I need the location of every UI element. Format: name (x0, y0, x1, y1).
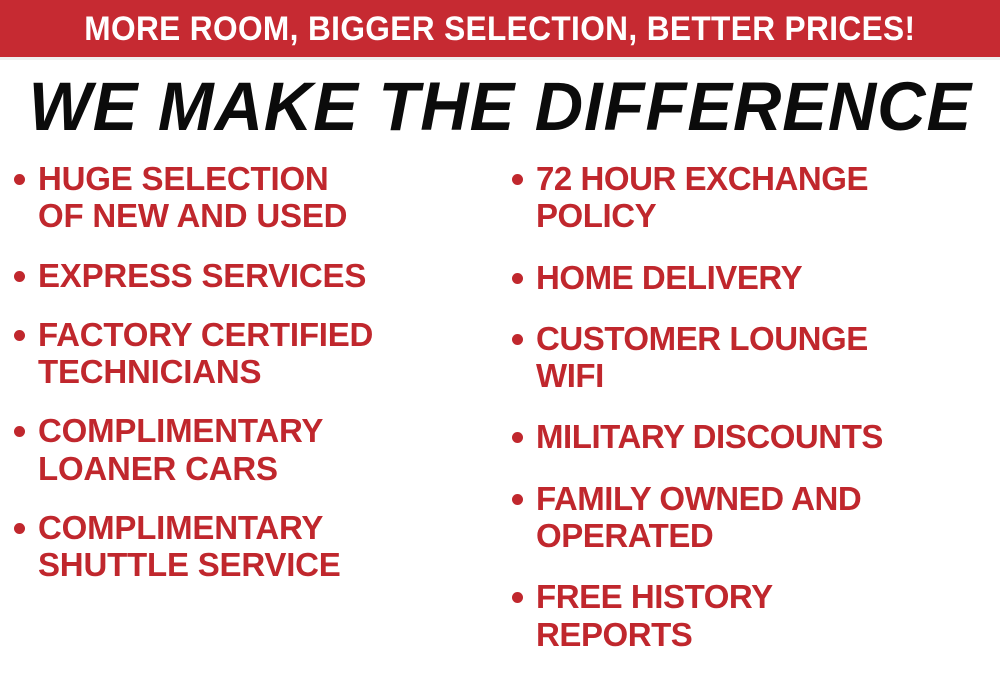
list-item-label: COMPLIMENTARY LOANER CARS (38, 412, 323, 487)
list-item-label: CUSTOMER LOUNGE WIFI (536, 320, 868, 395)
list-item-label: HOME DELIVERY (536, 259, 802, 296)
list-item-label: FAMILY OWNED AND OPERATED (536, 480, 861, 555)
list-item: FAMILY OWNED AND OPERATED (512, 480, 1000, 555)
list-item: CUSTOMER LOUNGE WIFI (512, 320, 1000, 395)
list-item-label: HUGE SELECTION OF NEW AND USED (38, 160, 347, 235)
page-title: WE MAKE THE DIFFERENCE (28, 72, 971, 141)
promo-banner: MORE ROOM, BIGGER SELECTION, BETTER PRIC… (0, 0, 1000, 57)
list-item: EXPRESS SERVICES (14, 257, 500, 294)
features-column-right: 72 HOUR EXCHANGE POLICYHOME DELIVERYCUST… (512, 160, 1000, 694)
bullet-dot-icon (512, 432, 523, 443)
list-item-label: 72 HOUR EXCHANGE POLICY (536, 160, 868, 235)
features-column-left: HUGE SELECTION OF NEW AND USEDEXPRESS SE… (14, 160, 500, 694)
promo-banner-text: MORE ROOM, BIGGER SELECTION, BETTER PRIC… (84, 12, 915, 46)
bullet-dot-icon (512, 174, 523, 185)
list-item: 72 HOUR EXCHANGE POLICY (512, 160, 1000, 235)
list-item-label: MILITARY DISCOUNTS (536, 418, 883, 455)
bullet-dot-icon (14, 330, 25, 341)
bullet-dot-icon (512, 494, 523, 505)
bullet-dot-icon (512, 592, 523, 603)
bullet-dot-icon (512, 273, 523, 284)
features-columns: HUGE SELECTION OF NEW AND USEDEXPRESS SE… (0, 160, 1000, 694)
list-item: COMPLIMENTARY LOANER CARS (14, 412, 500, 487)
list-item: HOME DELIVERY (512, 259, 1000, 296)
list-item: MILITARY DISCOUNTS (512, 418, 1000, 455)
list-item-label: EXPRESS SERVICES (38, 257, 366, 294)
headline-container: WE MAKE THE DIFFERENCE (0, 66, 1000, 146)
list-item: FACTORY CERTIFIED TECHNICIANS (14, 316, 500, 391)
bullet-dot-icon (14, 174, 25, 185)
list-item: COMPLIMENTARY SHUTTLE SERVICE (14, 509, 500, 584)
bullet-dot-icon (14, 523, 25, 534)
list-item: FREE HISTORY REPORTS (512, 578, 1000, 653)
bullet-dot-icon (14, 426, 25, 437)
list-item-label: COMPLIMENTARY SHUTTLE SERVICE (38, 509, 341, 584)
bullet-dot-icon (14, 271, 25, 282)
list-item: HUGE SELECTION OF NEW AND USED (14, 160, 500, 235)
list-item-label: FACTORY CERTIFIED TECHNICIANS (38, 316, 373, 391)
bullet-dot-icon (512, 334, 523, 345)
banner-underline-divider (0, 57, 1000, 60)
list-item-label: FREE HISTORY REPORTS (536, 578, 773, 653)
